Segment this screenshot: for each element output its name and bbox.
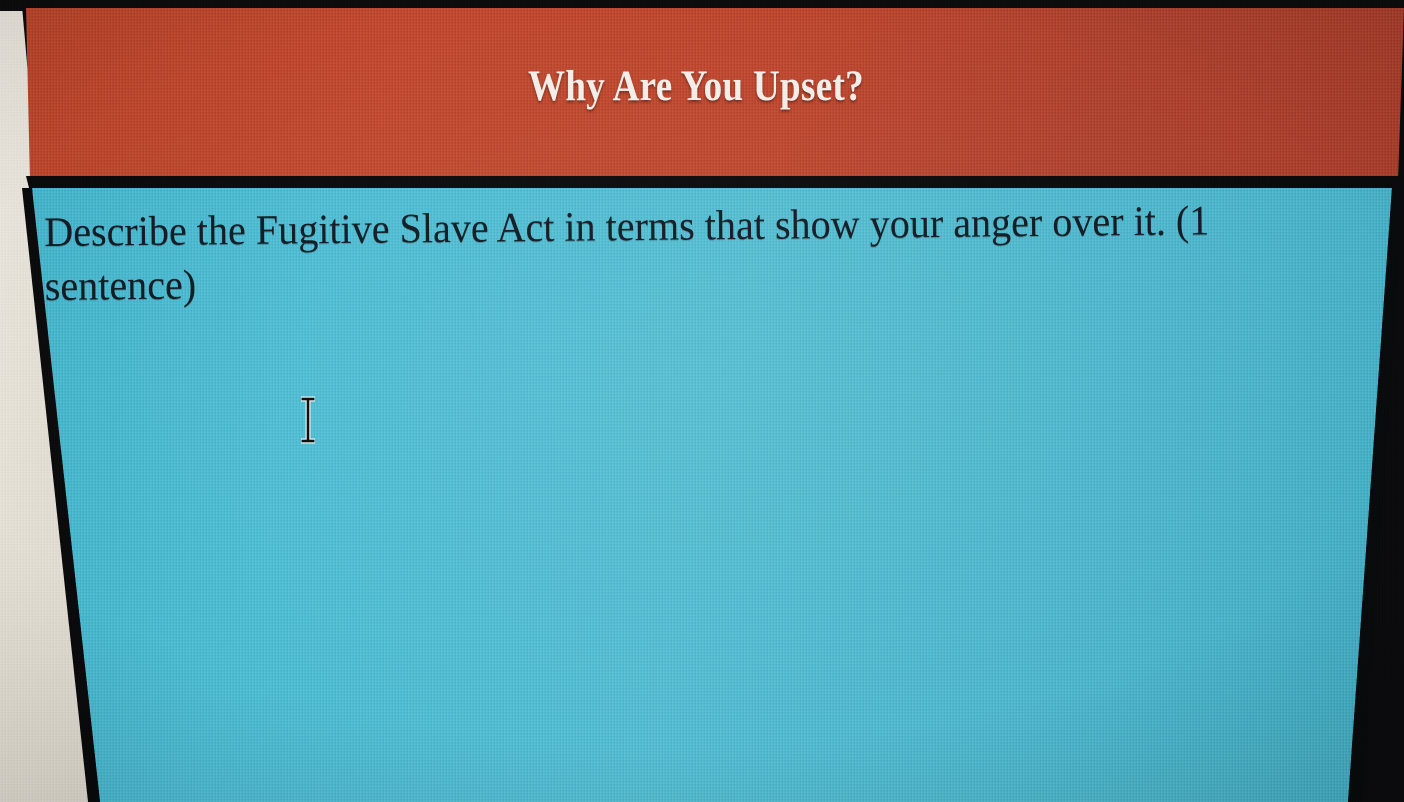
photographed-monitor-scene: Why Are You Upset? Describe the Fugitive… [0, 0, 1404, 802]
question-prompt-text: Describe the Fugitive Slave Act in terms… [44, 193, 1329, 314]
text-cursor-icon [297, 396, 319, 444]
slide-title: Why Are You Upset? [92, 62, 1299, 111]
presentation-slide: Why Are You Upset? Describe the Fugitive… [0, 0, 1404, 802]
